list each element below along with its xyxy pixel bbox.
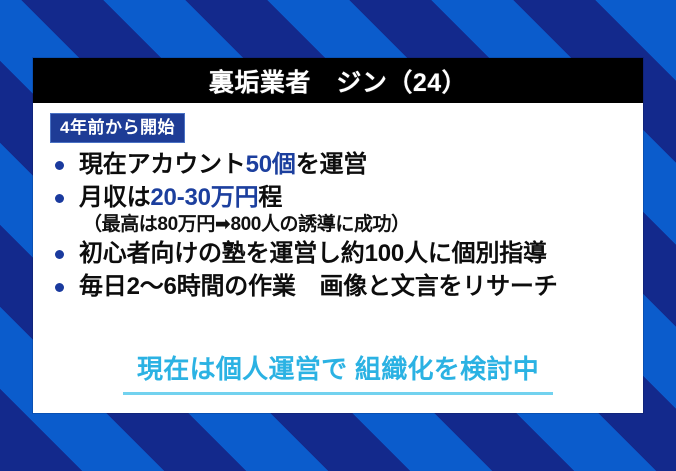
text-segment: を運営	[296, 151, 367, 178]
list-item: 月収は20-30万円程（最高は80万円➡800人の誘導に成功）	[49, 182, 643, 237]
list-item: 現在アカウント50個を運営	[49, 149, 643, 181]
list-item-subnote: （最高は80万円➡800人の誘導に成功）	[83, 213, 643, 237]
list-item-label: 毎日2～6時間の作業 画像と文言をリサーチ	[79, 271, 643, 303]
info-card: 裏垢業者 ジン（24） 4年前から開始 現在アカウント50個を運営月収は20-3…	[33, 58, 643, 413]
badge-row: 4年前から開始	[33, 103, 643, 145]
card-header: 裏垢業者 ジン（24）	[33, 58, 643, 103]
text-segment: 20-30万円	[150, 184, 258, 211]
list-item-label: 現在アカウント50個を運営	[79, 149, 643, 181]
bullet-list: 現在アカウント50個を運営月収は20-30万円程（最高は80万円➡800人の誘導…	[33, 145, 643, 302]
status-badge: 4年前から開始	[50, 113, 185, 143]
text-segment: 毎日2～6時間の作業 画像と文言をリサーチ	[79, 273, 558, 300]
bullet-dot-icon	[55, 250, 64, 259]
bullet-dot-icon	[55, 283, 64, 292]
bullet-dot-icon	[55, 194, 64, 203]
list-item: 初心者向けの塾を運営し約100人に個別指導	[49, 238, 643, 270]
page-title: 裏垢業者 ジン（24）	[209, 63, 467, 99]
bullet-dot-icon	[55, 161, 64, 170]
conclusion-row: 現在は個人運営で 組織化を検討中	[33, 349, 643, 395]
text-segment: 程	[258, 184, 282, 211]
list-item-label: 初心者向けの塾を運営し約100人に個別指導	[79, 238, 643, 270]
conclusion-text: 現在は個人運営で 組織化を検討中	[123, 349, 553, 395]
text-segment: 50個	[246, 151, 296, 178]
card-body: 4年前から開始 現在アカウント50個を運営月収は20-30万円程（最高は80万円…	[33, 103, 643, 413]
list-item: 毎日2～6時間の作業 画像と文言をリサーチ	[49, 271, 643, 303]
slide-root: 裏垢業者 ジン（24） 4年前から開始 現在アカウント50個を運営月収は20-3…	[0, 0, 676, 471]
text-segment: 初心者向けの塾を運営し約100人に個別指導	[79, 240, 547, 267]
text-segment: 月収は	[79, 184, 150, 211]
list-item-label: 月収は20-30万円程	[79, 182, 643, 214]
text-segment: 現在アカウント	[79, 151, 246, 178]
